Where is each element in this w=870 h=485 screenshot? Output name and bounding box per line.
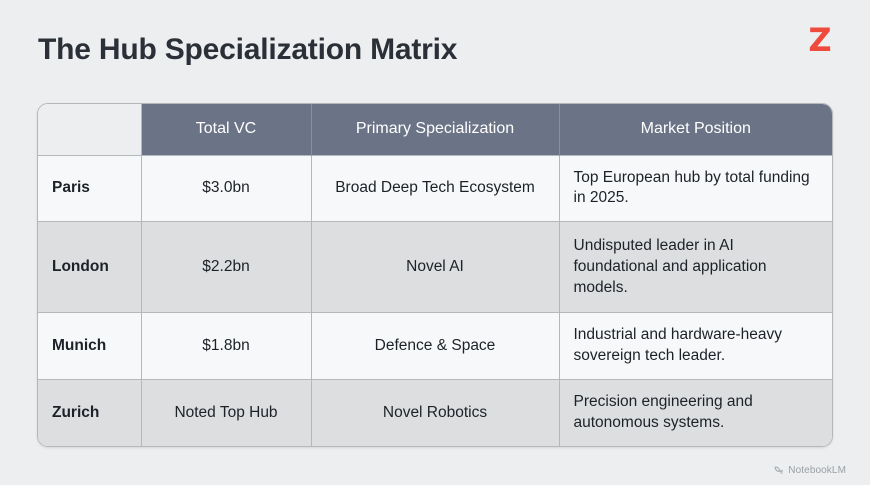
footer-brand-label: NotebookLM bbox=[788, 465, 846, 476]
cell-total-vc: $3.0bn bbox=[141, 155, 311, 222]
table-row: Paris $3.0bn Broad Deep Tech Ecosystem T… bbox=[38, 155, 832, 222]
cell-specialization: Novel Robotics bbox=[311, 380, 559, 446]
page-title: The Hub Specialization Matrix bbox=[38, 33, 457, 67]
cell-specialization: Broad Deep Tech Ecosystem bbox=[311, 155, 559, 222]
cell-specialization: Novel AI bbox=[311, 222, 559, 313]
brand-logo-z-icon: Z bbox=[803, 22, 837, 58]
cell-specialization: Defence & Space bbox=[311, 313, 559, 380]
column-header-primary-specialization: Primary Specialization bbox=[311, 104, 559, 155]
footer-brand: NotebookLM bbox=[773, 465, 846, 476]
cell-city: London bbox=[38, 222, 141, 313]
notebooklm-icon bbox=[773, 465, 784, 476]
slide-canvas: The Hub Specialization Matrix Z Total VC… bbox=[0, 0, 870, 485]
table-row: Munich $1.8bn Defence & Space Industrial… bbox=[38, 313, 832, 380]
matrix-table: Total VC Primary Specialization Market P… bbox=[38, 104, 832, 446]
column-header-total-vc: Total VC bbox=[141, 104, 311, 155]
cell-city: Munich bbox=[38, 313, 141, 380]
column-header-market-position: Market Position bbox=[559, 104, 832, 155]
cell-total-vc: Noted Top Hub bbox=[141, 380, 311, 446]
cell-market-position: Industrial and hardware-heavy sovereign … bbox=[559, 313, 832, 380]
table-row: Zurich Noted Top Hub Novel Robotics Prec… bbox=[38, 380, 832, 446]
cell-market-position: Undisputed leader in AI foundational and… bbox=[559, 222, 832, 313]
column-header-blank bbox=[38, 104, 141, 155]
table-header-row: Total VC Primary Specialization Market P… bbox=[38, 104, 832, 155]
table-header: Total VC Primary Specialization Market P… bbox=[38, 104, 832, 155]
cell-market-position: Top European hub by total funding in 202… bbox=[559, 155, 832, 222]
cell-market-position: Precision engineering and autonomous sys… bbox=[559, 380, 832, 446]
table-body: Paris $3.0bn Broad Deep Tech Ecosystem T… bbox=[38, 155, 832, 446]
cell-total-vc: $2.2bn bbox=[141, 222, 311, 313]
cell-city: Paris bbox=[38, 155, 141, 222]
cell-total-vc: $1.8bn bbox=[141, 313, 311, 380]
cell-city: Zurich bbox=[38, 380, 141, 446]
specialization-matrix: Total VC Primary Specialization Market P… bbox=[37, 103, 833, 447]
table-row: London $2.2bn Novel AI Undisputed leader… bbox=[38, 222, 832, 313]
